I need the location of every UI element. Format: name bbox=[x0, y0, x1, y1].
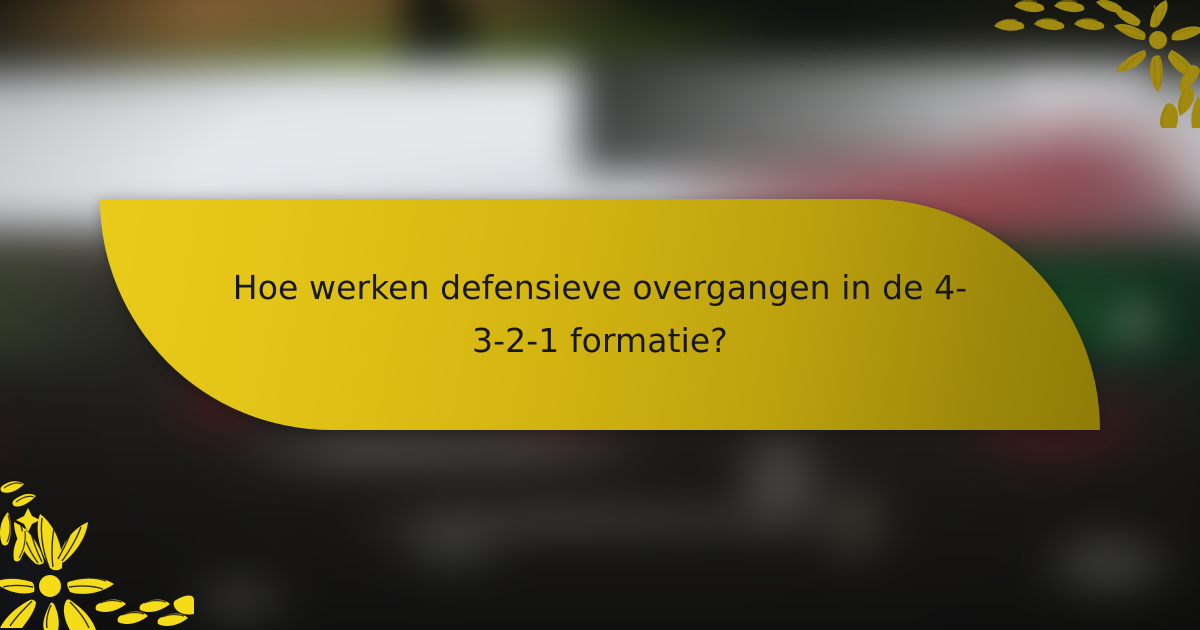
damask-floral-motif-top-right bbox=[994, 0, 1200, 128]
damask-floral-motif-bottom-left bbox=[0, 481, 194, 630]
corner-ornament-bottom-left bbox=[0, 464, 194, 630]
share-card-canvas: Hoe werken defensieve overgangen in de 4… bbox=[0, 0, 1200, 630]
corner-ornament-top-right bbox=[994, 0, 1200, 128]
page-title: Hoe werken defensieve overgangen in de 4… bbox=[220, 261, 980, 369]
title-banner: Hoe werken defensieve overgangen in de 4… bbox=[100, 199, 1100, 430]
